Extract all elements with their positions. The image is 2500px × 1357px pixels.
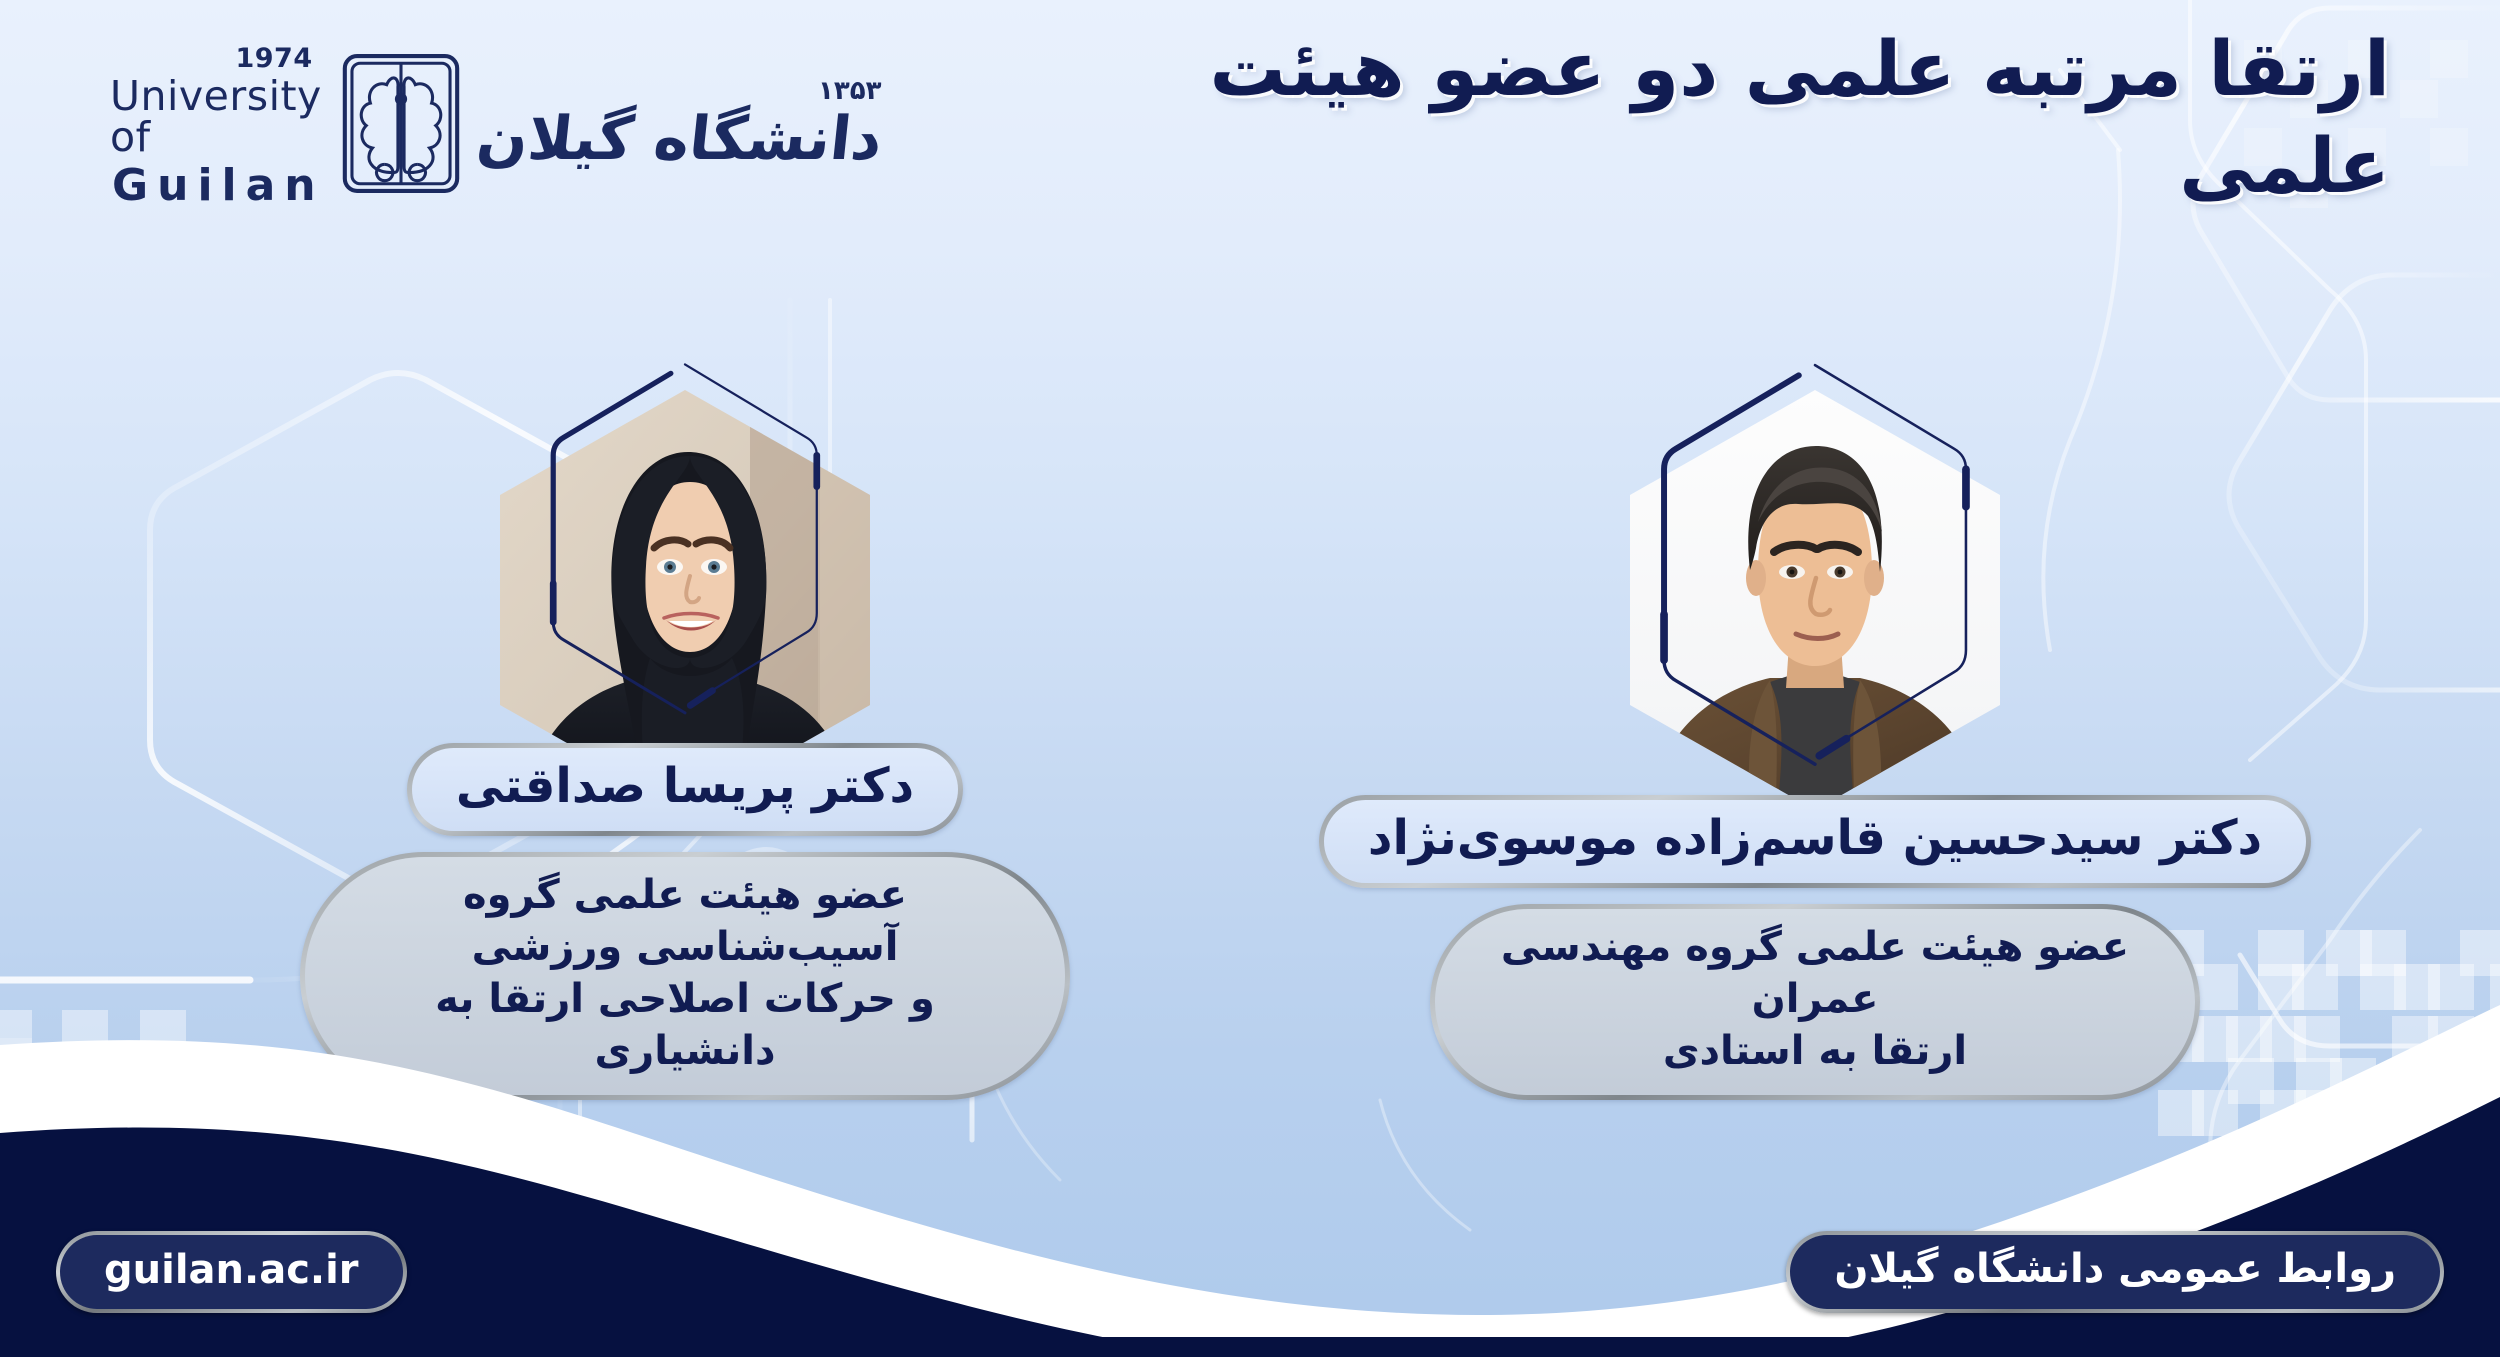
public-relations-pill: روابط عمومی دانشگاه گیلان: [1786, 1231, 2444, 1313]
logo-persian-block: ۱۳۵۳ دانشگاه گیلان: [477, 76, 882, 171]
public-relations-label: روابط عمومی دانشگاه گیلان: [1790, 1235, 2440, 1309]
logo-university-of: University of: [110, 76, 325, 158]
person-name-pill: دکتر سیدحسین قاسم‌زاده موسوی‌نژاد: [1319, 795, 2311, 888]
logo-year-fa: ۱۳۵۳: [818, 76, 881, 106]
person-name: دکتر سیدحسین قاسم‌زاده موسوی‌نژاد: [1324, 800, 2306, 883]
hexagon-outline: [470, 360, 900, 717]
guilan-emblem-icon: [337, 52, 465, 195]
page-title: ارتقا مرتبه علمی دو عضو هیئت علمی: [1090, 20, 2390, 215]
logo-guilan: Guilan: [112, 164, 325, 208]
logo-english-block: 1974 University of Guilan: [110, 39, 325, 208]
logo-year-en: 1974: [235, 45, 312, 72]
university-logo: 1974 University of Guilan ۱۳۵۳ دانشگاه گ…: [110, 48, 810, 198]
poster-canvas: 1974 University of Guilan ۱۳۵۳ دانشگاه گ…: [0, 0, 2500, 1357]
logo-university-name-fa: دانشگاه گیلان: [473, 108, 884, 171]
hexagon-photo-frame: [1600, 360, 2030, 769]
person-name: دکتر پریسا صداقتی: [412, 748, 958, 831]
website-url[interactable]: guilan.ac.ir: [60, 1235, 403, 1309]
website-pill[interactable]: guilan.ac.ir: [56, 1231, 407, 1313]
hexagon-photo-frame: [470, 360, 900, 717]
hexagon-outline: [1600, 360, 2030, 769]
person-name-pill: دکتر پریسا صداقتی: [407, 743, 963, 836]
